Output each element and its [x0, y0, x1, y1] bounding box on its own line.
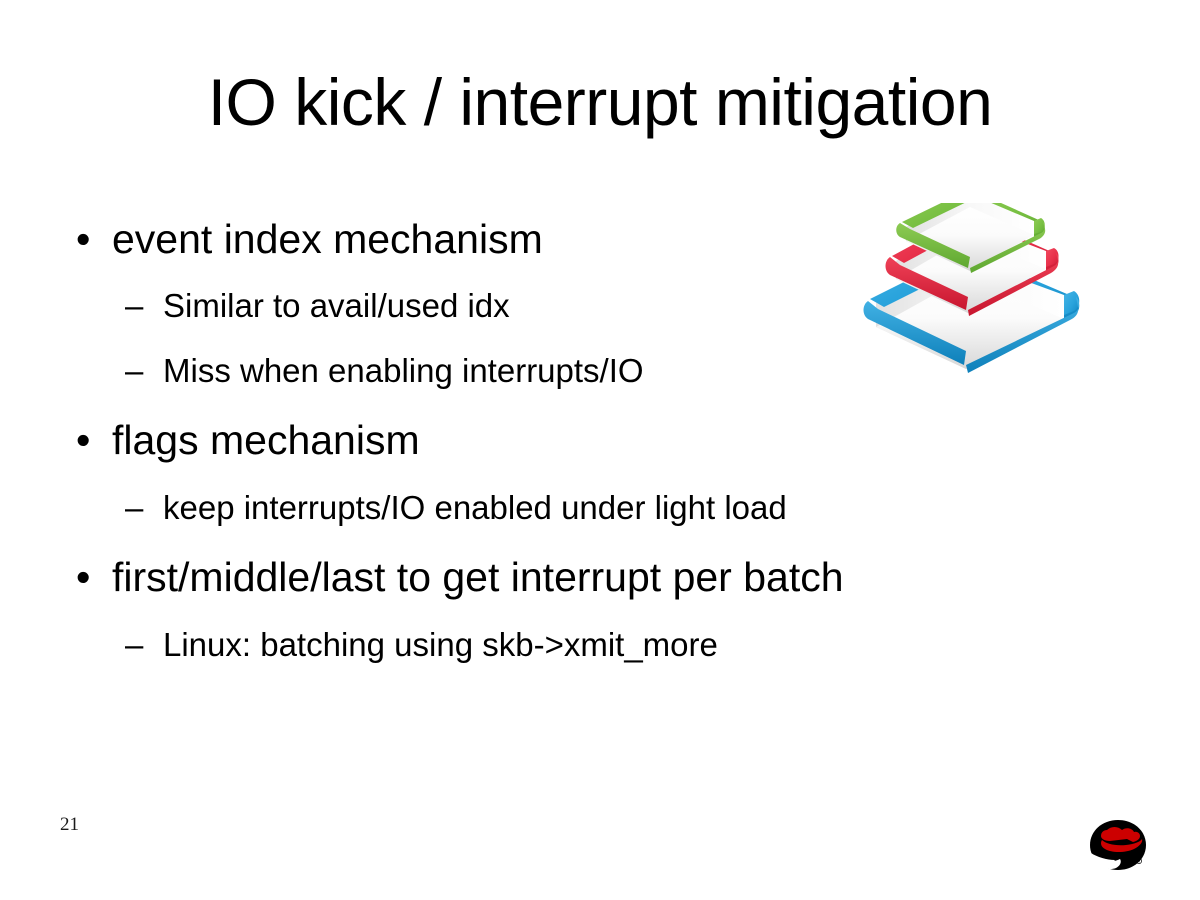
dash-bullet-icon: – [125, 353, 143, 389]
page-title: IO kick / interrupt mitigation [60, 66, 1140, 138]
bullet-icon: • [76, 418, 90, 462]
books-stack-icon [848, 203, 1092, 389]
list-item: • first/middle/last to get interrupt per… [60, 555, 1060, 599]
list-item-label: keep interrupts/IO enabled under light l… [163, 489, 787, 526]
list-item-label: Miss when enabling interrupts/IO [163, 352, 644, 389]
list-item-label: Similar to avail/used idx [163, 287, 510, 324]
list-item: • flags mechanism [60, 418, 1060, 462]
dash-bullet-icon: – [125, 490, 143, 526]
list-item-label: event index mechanism [112, 216, 543, 262]
bullet-icon: • [76, 555, 90, 599]
list-item-label: flags mechanism [112, 417, 420, 463]
list-item-label: first/middle/last to get interrupt per b… [112, 554, 844, 600]
list-item: – keep interrupts/IO enabled under light… [60, 490, 1060, 526]
bullet-icon: • [76, 217, 90, 261]
list-item: – Linux: batching using skb->xmit_more [60, 627, 1060, 663]
dash-bullet-icon: – [125, 627, 143, 663]
page-number: 21 [60, 814, 79, 836]
list-item-label: Linux: batching using skb->xmit_more [163, 626, 718, 663]
red-hat-shadowman-logo: R [1082, 816, 1154, 880]
dash-bullet-icon: – [125, 288, 143, 324]
slide-canvas: IO kick / interrupt mitigation • event i… [0, 0, 1200, 900]
